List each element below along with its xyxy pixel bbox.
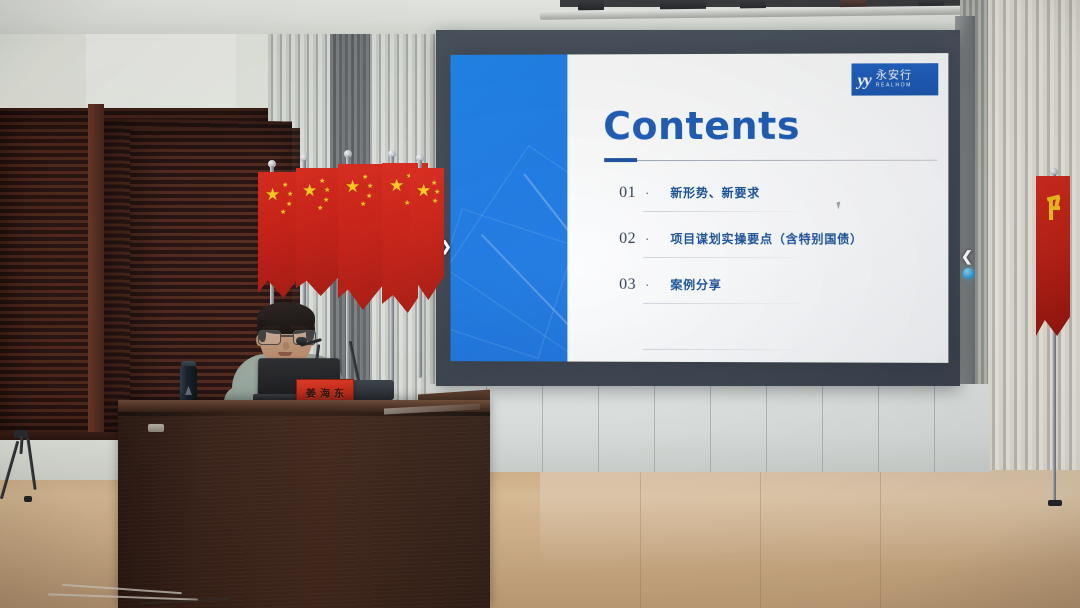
photo-scene: REALHOM yy 永安行 REALHOM Contents 01 · 新形势… bbox=[0, 0, 1080, 608]
title-rule bbox=[604, 160, 937, 161]
wood-panel-pillar bbox=[88, 104, 104, 444]
hammer-sickle-icon bbox=[1045, 196, 1062, 220]
toc-separator bbox=[643, 349, 813, 351]
next-slide-arrow-icon[interactable]: ❮ bbox=[961, 248, 973, 265]
toc-dot: · bbox=[645, 230, 649, 248]
slide-title: Contents bbox=[603, 104, 800, 148]
projection-screen[interactable]: REALHOM yy 永安行 REALHOM Contents 01 · 新形势… bbox=[450, 53, 948, 363]
tripod-foot bbox=[24, 496, 32, 502]
logo-name-en: REALHOM bbox=[876, 83, 912, 88]
list-item-empty bbox=[619, 322, 948, 363]
toc-dot: · bbox=[645, 276, 649, 294]
podium-edge bbox=[118, 412, 490, 416]
desk-object bbox=[350, 380, 394, 400]
slide-blue-panel: REALHOM bbox=[450, 54, 567, 361]
toc-label: 新形势、新要求 bbox=[670, 184, 760, 202]
slide-content-panel: yy 永安行 REALHOM Contents 01 · 新形势、新要求 02 bbox=[567, 53, 948, 363]
table-of-contents: 01 · 新形势、新要求 02 · 项目谋划实操要点（含特别国债） 03 · 案… bbox=[619, 184, 948, 363]
nameplate-char: 东 bbox=[334, 385, 344, 400]
screen-indicator-dot[interactable] bbox=[963, 268, 974, 279]
microphone-head-icon bbox=[296, 337, 307, 345]
presenter-mouth bbox=[278, 352, 292, 356]
floor-reflection bbox=[540, 470, 1080, 608]
party-flag-base bbox=[1048, 500, 1062, 506]
presenter-nose bbox=[283, 342, 289, 350]
toc-number: 02 bbox=[619, 230, 636, 248]
toc-label: 案例分享 bbox=[670, 276, 721, 294]
list-item: 03 · 案例分享 bbox=[619, 276, 948, 323]
podium-badge bbox=[148, 424, 164, 432]
toc-label: 项目谋划实操要点（含特别国债） bbox=[670, 230, 863, 248]
toc-number: 03 bbox=[619, 276, 636, 294]
nameplate-char: 海 bbox=[320, 385, 330, 400]
title-rule-accent bbox=[604, 158, 637, 162]
list-item: 02 · 项目谋划实操要点（含特别国债） bbox=[619, 230, 948, 276]
brand-logo: yy 永安行 REALHOM bbox=[852, 63, 939, 95]
podium-wood-grain bbox=[118, 400, 490, 608]
toc-separator bbox=[643, 257, 813, 258]
logo-name-cn: 永安行 bbox=[876, 70, 912, 81]
toc-separator bbox=[643, 211, 813, 212]
toc-number: 01 bbox=[619, 184, 636, 202]
nameplate-char: 姜 bbox=[306, 385, 316, 400]
toc-separator bbox=[643, 303, 813, 304]
toc-dot: · bbox=[645, 184, 649, 202]
logo-mark-icon: yy bbox=[858, 71, 871, 88]
podium bbox=[118, 400, 490, 608]
list-item: 01 · 新形势、新要求 bbox=[619, 184, 948, 230]
